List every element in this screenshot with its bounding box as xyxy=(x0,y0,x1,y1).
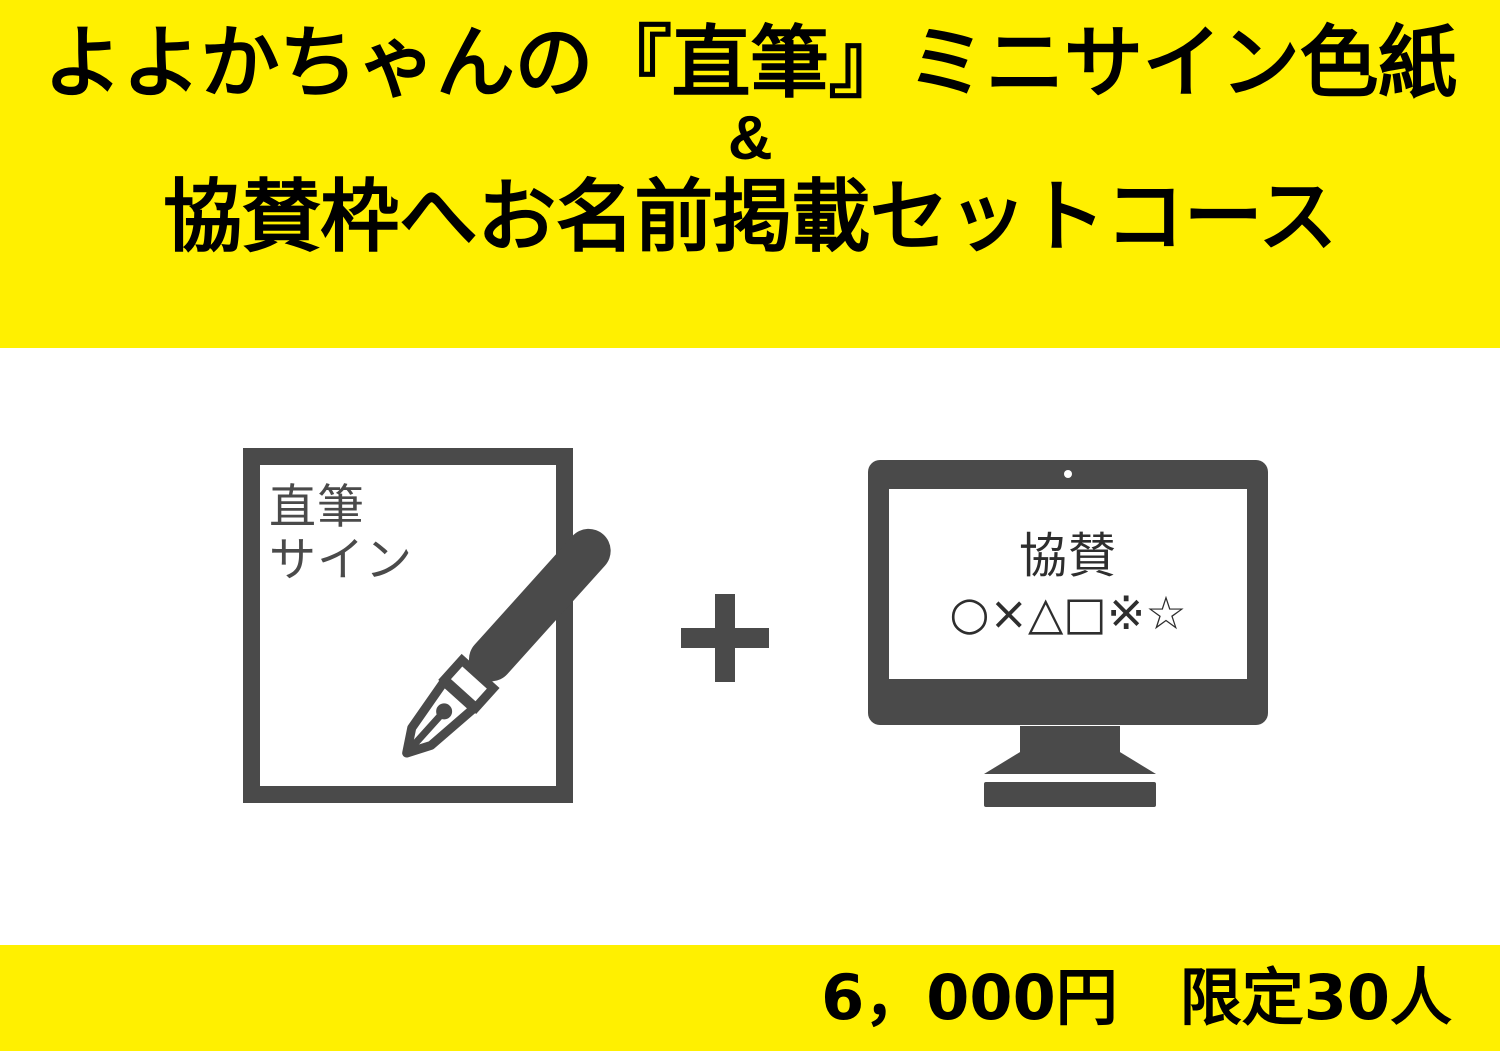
monitor-bezel: 協賛 ○×△□※☆ xyxy=(868,460,1268,725)
title-line-2-ampersand: & xyxy=(728,104,772,173)
header-banner: よよかちゃんの『直筆』ミニサイン色紙 & 協賛枠へお名前掲載セットコース xyxy=(0,0,1500,348)
signature-board-label-line-2: サイン xyxy=(269,535,413,588)
signature-board-icon: 直筆 サイン xyxy=(243,448,573,803)
plus-icon xyxy=(681,594,769,682)
signature-board-label: 直筆 サイン xyxy=(269,482,413,587)
promo-card: よよかちゃんの『直筆』ミニサイン色紙 & 協賛枠へお名前掲載セットコース 直筆 … xyxy=(0,0,1500,1051)
monitor-screen: 協賛 ○×△□※☆ xyxy=(889,489,1247,679)
monitor-screen-sponsor-symbols: ○×△□※☆ xyxy=(949,590,1186,636)
monitor-icon: 協賛 ○×△□※☆ xyxy=(868,460,1268,810)
title-line-3: 協賛枠へお名前掲載セットコース xyxy=(163,176,1337,258)
monitor-stand-foot xyxy=(984,752,1156,774)
monitor-screen-heading: 協賛 xyxy=(1019,532,1117,580)
title-line-1: よよかちゃんの『直筆』ミニサイン色紙 xyxy=(44,22,1457,104)
price-and-limit-text: 6，000円 限定30人 xyxy=(821,967,1452,1029)
signature-board-label-line-1: 直筆 xyxy=(269,482,413,535)
monitor-stand-base xyxy=(984,782,1156,807)
footer-banner: 6，000円 限定30人 xyxy=(0,945,1500,1051)
plus-icon-vertical-bar xyxy=(715,594,735,682)
webcam-dot-icon xyxy=(1064,470,1072,478)
illustration-area: 直筆 サイン xyxy=(0,348,1500,945)
